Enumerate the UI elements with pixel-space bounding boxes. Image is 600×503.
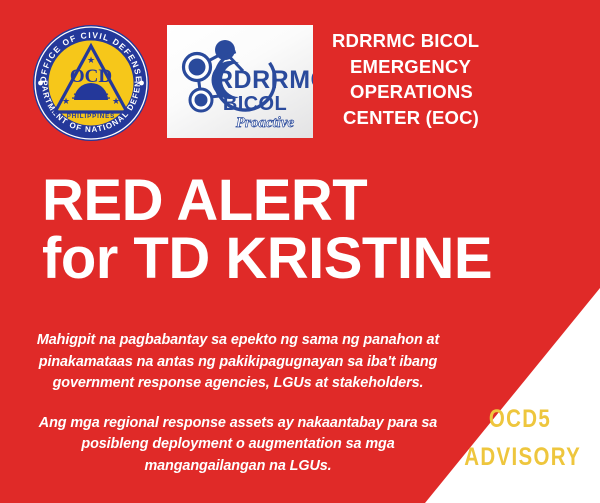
header-title-block: RDRRMC BICOL EMERGENCY OPERATIONS CENTER… [332,28,582,130]
header-title-line-4: CENTER (EOC) [332,105,582,131]
proactive-script-text: Proactive [236,115,295,131]
header-title-line-1: RDRRMC BICOL [332,28,582,54]
advisory-stamp-line-1: OCD5 [464,400,576,438]
ocd-philippines-text: PHILIPPINES [67,113,115,120]
svg-text:★: ★ [112,96,120,106]
advisory-stamp-line-2: ADVISORY [464,438,576,476]
alert-headline-line-1: RED ALERT [42,172,572,230]
advisory-stamp: OCD5 ADVISORY [452,400,588,476]
red-alert-poster: OFFICE OF CIVIL DEFENSE DEPARTMENT OF NA… [0,0,600,503]
rdrrmc-wordmark-text: RDRRMC [215,66,313,94]
header-title-line-2: EMERGENCY [332,54,582,80]
poster-header: OFFICE OF CIVIL DEFENSE DEPARTMENT OF NA… [0,0,600,158]
advisory-paragraph-1: Mahigpit na pagbabantay sa epekto ng sam… [28,330,448,395]
advisory-body-copy: Mahigpit na pagbabantay sa epekto ng sam… [28,330,448,477]
rdrrmc-bicol-logo-icon: RDRRMC BICOL Proactive [167,25,313,138]
header-title-line-3: OPERATIONS [332,79,582,105]
alert-headline: RED ALERT for TD KRISTINE [42,172,572,288]
alert-headline-line-2: for TD KRISTINE [42,230,572,288]
svg-text:★: ★ [87,55,95,65]
advisory-paragraph-2: Ang mga regional response assets ay naka… [28,413,448,478]
svg-text:★: ★ [62,96,70,106]
bicol-wordmark-text: BICOL [223,93,287,115]
ocd-seal-icon: OFFICE OF CIVIL DEFENSE DEPARTMENT OF NA… [30,24,152,142]
